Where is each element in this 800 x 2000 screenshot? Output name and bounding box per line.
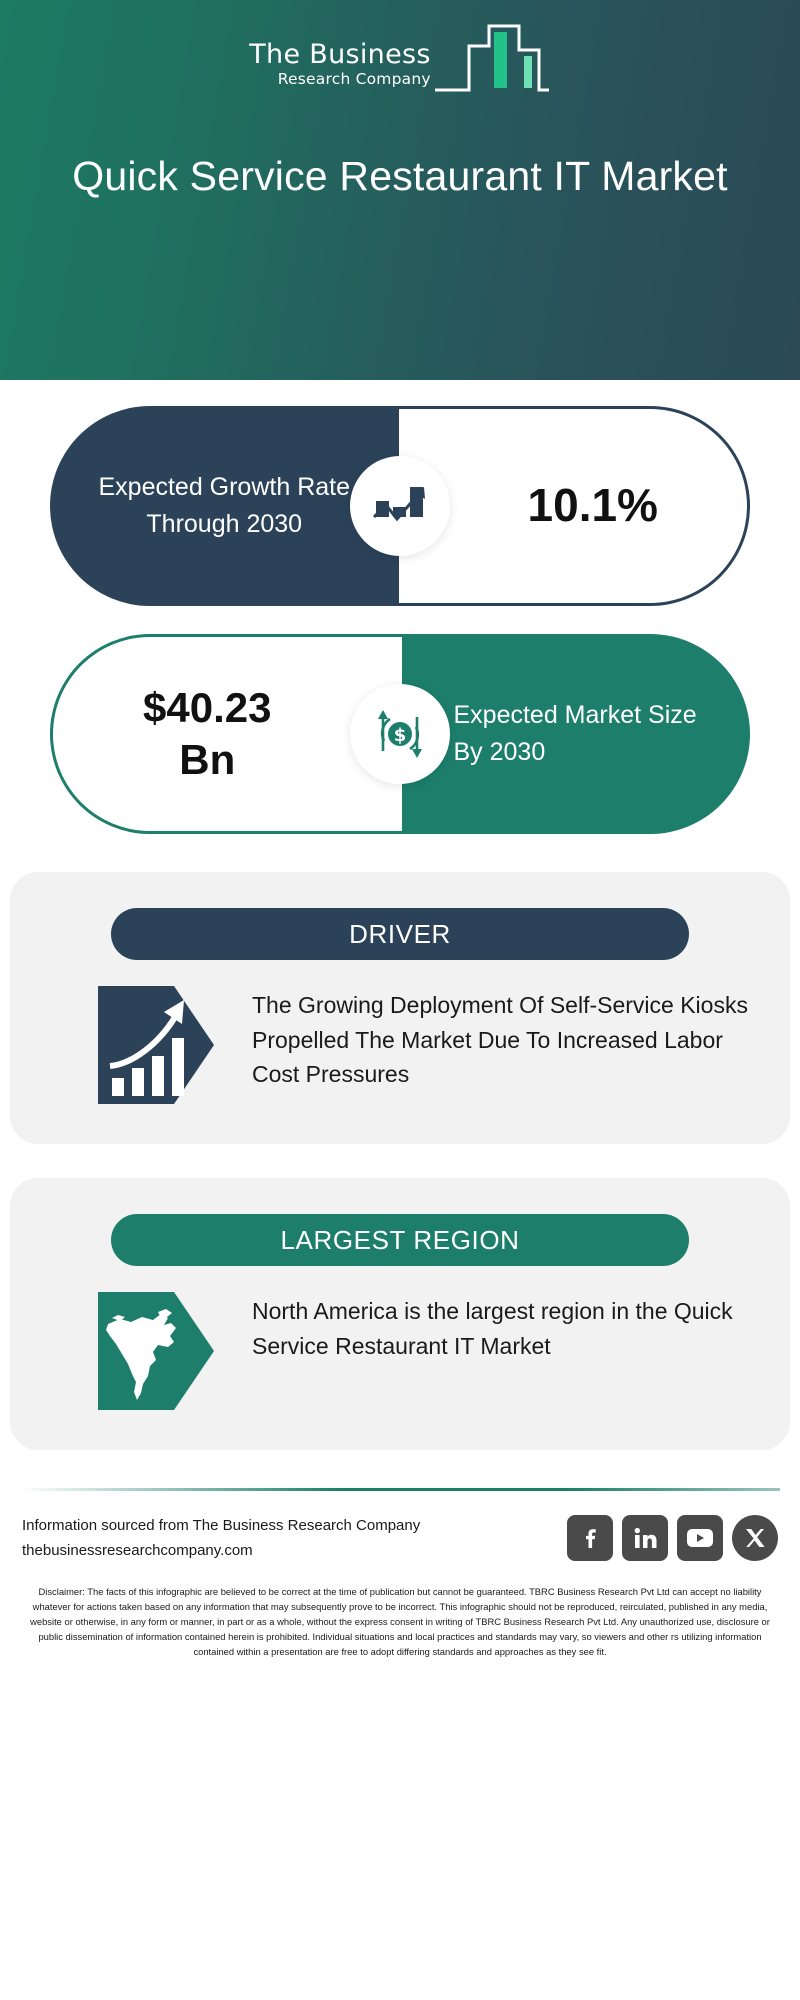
page-title: Quick Service Restaurant IT Market: [60, 150, 740, 203]
brand-name-primary: The Business: [249, 41, 430, 69]
largest-region-heading: LARGEST REGION: [111, 1214, 689, 1266]
growth-chart-arrow-icon: [350, 456, 450, 556]
market-size-label-panel: Expected Market Size By 2030: [402, 634, 751, 834]
section-driver: DRIVER The Growing Deployment Of Self-Se…: [10, 872, 790, 1144]
market-size-value-panel: $40.23 Bn: [50, 634, 402, 834]
brand-logo: The Business Research Company: [0, 20, 800, 103]
footer-source-line1: Information sourced from The Business Re…: [22, 1513, 420, 1538]
growth-rate-value: 10.1%: [488, 477, 658, 535]
disclaimer-text: Disclaimer: The facts of this infographi…: [0, 1563, 800, 1659]
market-size-label: Expected Market Size By 2030: [402, 697, 751, 771]
x-twitter-icon[interactable]: [732, 1515, 778, 1561]
brand-logo-text: The Business Research Company: [249, 41, 430, 103]
facebook-icon[interactable]: [567, 1515, 613, 1561]
youtube-icon[interactable]: [677, 1515, 723, 1561]
footer-source: Information sourced from The Business Re…: [22, 1513, 420, 1563]
section-largest-region: LARGEST REGION North America is the larg…: [10, 1178, 790, 1450]
footer-source-line2[interactable]: thebusinessresearchcompany.com: [22, 1538, 420, 1563]
page-header: The Business Research Company Quick Serv…: [0, 0, 800, 380]
market-size-value-line1: $40.23: [143, 682, 271, 735]
driver-heading: DRIVER: [111, 908, 689, 960]
dollar-circular-arrows-icon: $: [350, 684, 450, 784]
svg-text:$: $: [394, 725, 407, 746]
driver-body-text: The Growing Deployment Of Self-Service K…: [252, 986, 750, 1092]
social-links: [567, 1515, 778, 1561]
market-size-value-line2: Bn: [143, 734, 271, 787]
bar-chart-logo-mark: [433, 20, 551, 103]
brand-name-secondary: Research Company: [278, 69, 431, 89]
footer: Information sourced from The Business Re…: [0, 1491, 800, 1563]
growth-bars-arrow-pentagon-icon: [98, 986, 214, 1104]
growth-rate-label: Expected Growth Rate Through 2030: [50, 469, 399, 543]
stat-card-growth-rate: Expected Growth Rate Through 2030 10.1%: [0, 380, 800, 606]
growth-rate-label-panel: Expected Growth Rate Through 2030: [50, 406, 399, 606]
largest-region-body-text: North America is the largest region in t…: [252, 1292, 750, 1363]
north-america-map-pentagon-icon: [98, 1292, 214, 1410]
stat-card-market-size: $40.23 Bn Expected Market Size By 2030 $: [0, 606, 800, 834]
linkedin-icon[interactable]: [622, 1515, 668, 1561]
growth-rate-value-panel: 10.1%: [399, 406, 751, 606]
market-size-value: $40.23 Bn: [143, 682, 311, 787]
